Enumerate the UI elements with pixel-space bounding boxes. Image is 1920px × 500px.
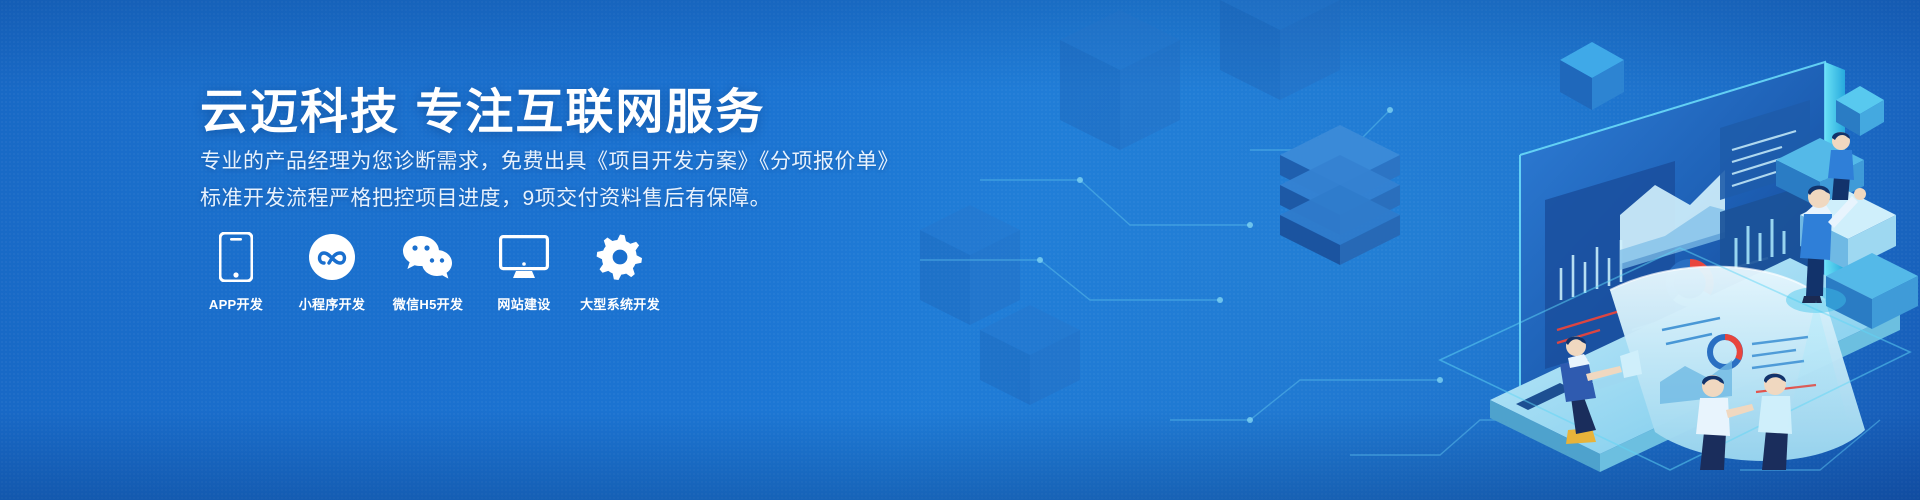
subtitle-line-2: 标准开发流程严格把控项目进度，9项交付资料售后有保障。 [200, 182, 771, 212]
service-icon-list: APP开发 小程序开发 [200, 230, 680, 313]
subtitle-line-1: 专业的产品经理为您诊断需求，免费出具《项目开发方案》《分项报价单》 [200, 145, 899, 175]
service-label: 大型系统开发 [580, 294, 660, 313]
service-label: 网站建设 [497, 294, 550, 313]
service-label: 小程序开发 [299, 294, 366, 313]
page-title: 云迈科技 专注互联网服务 [200, 72, 765, 142]
banner-content: 云迈科技 专注互联网服务 专业的产品经理为您诊断需求，免费出具《项目开发方案》《… [0, 0, 1000, 500]
isometric-illustration [920, 0, 1920, 500]
monitor-icon [497, 230, 551, 284]
service-label: 微信H5开发 [393, 294, 463, 313]
mini-program-icon [305, 230, 359, 284]
service-item-website[interactable]: 网站建设 [488, 230, 560, 313]
mobile-phone-icon [209, 230, 263, 284]
hero-banner: 云迈科技 专注互联网服务 专业的产品经理为您诊断需求，免费出具《项目开发方案》《… [0, 0, 1920, 500]
wechat-icon [401, 230, 455, 284]
service-label: APP开发 [209, 294, 263, 313]
gear-icon [593, 230, 647, 284]
server-stack-block [1280, 125, 1400, 265]
service-item-app[interactable]: APP开发 [200, 230, 272, 313]
service-item-miniprogram[interactable]: 小程序开发 [296, 230, 368, 313]
service-item-wechat-h5[interactable]: 微信H5开发 [392, 230, 464, 313]
service-item-large-system[interactable]: 大型系统开发 [584, 230, 656, 313]
accent-cubes [1560, 42, 1624, 110]
